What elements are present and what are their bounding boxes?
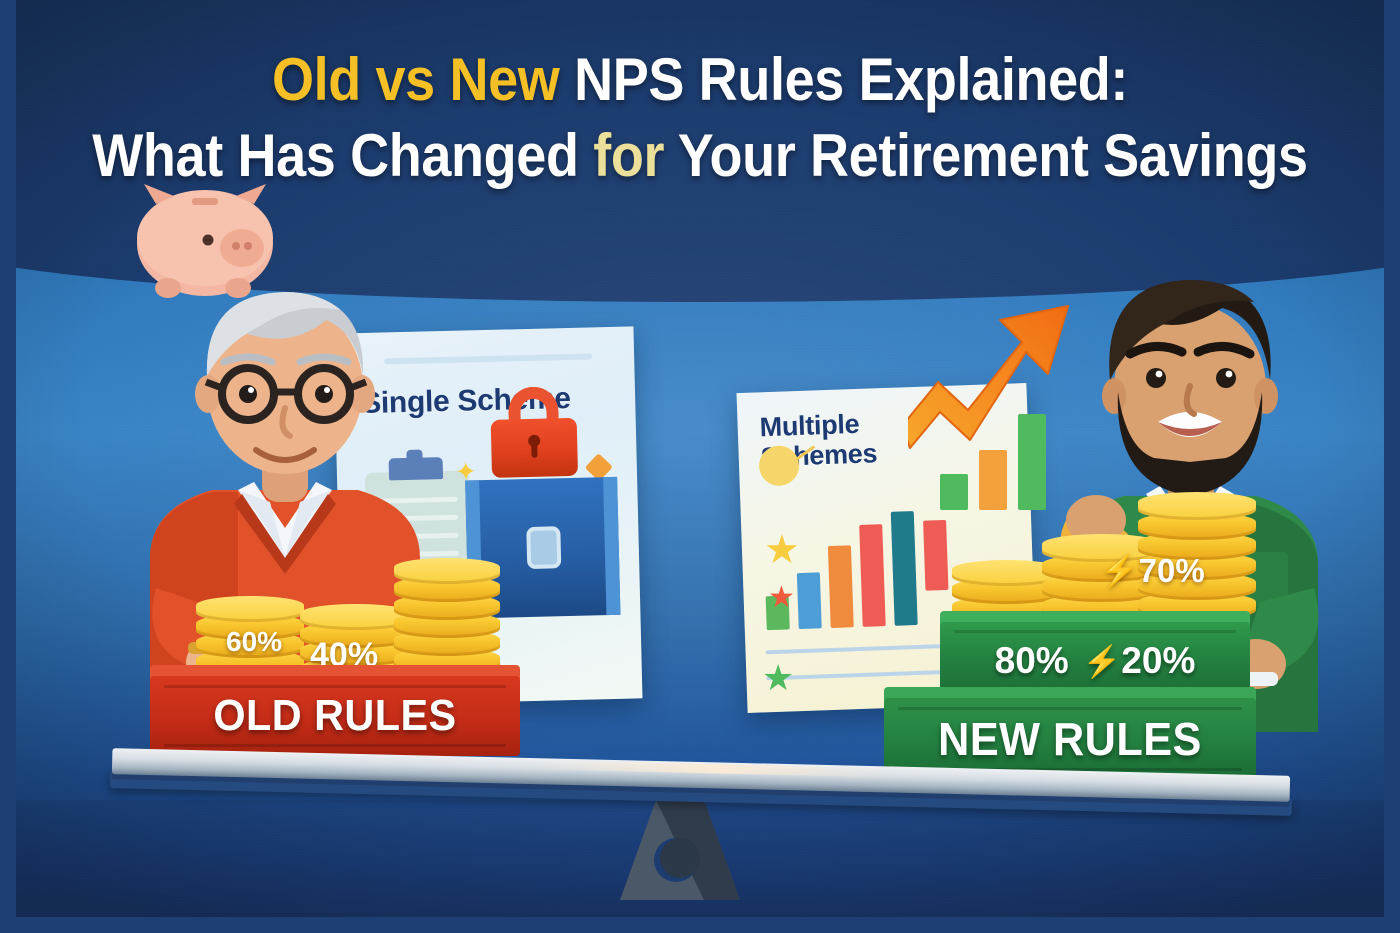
percent-80-label: 80%: [995, 640, 1069, 682]
block-seam: [164, 685, 506, 688]
star-yellow-icon: ★: [764, 530, 800, 570]
bar-chart-bar: [859, 524, 886, 627]
old-rules-label: OLD RULES: [161, 691, 509, 741]
piggy-bank-icon: [130, 182, 280, 300]
percent-20-label: 20%: [1121, 640, 1195, 681]
block-seam: [164, 744, 506, 747]
title-line-1-rest: NPS Rules Explained:: [559, 46, 1128, 113]
briefcase-latch: [526, 526, 561, 569]
title-highlight-for: for: [593, 122, 664, 189]
bar-chart-bar: [828, 545, 854, 628]
coin-label-70: ⚡70%: [1100, 552, 1205, 590]
coin-label-60: 60%: [226, 626, 282, 658]
bolt-icon: ⚡: [1100, 552, 1139, 589]
coin-top: [394, 558, 500, 584]
padlock-icon: [490, 388, 578, 468]
pie-dot-icon: [756, 424, 820, 488]
bolt-icon: ⚡: [1083, 643, 1122, 680]
star-orange-icon: ★: [768, 583, 795, 613]
title-block: Old vs New NPS Rules Explained: What Has…: [0, 48, 1400, 187]
title-line-2: What Has Changed for Your Retirement Sav…: [70, 124, 1330, 188]
new-rules-label: NEW RULES: [895, 712, 1245, 766]
new-rules-percent-row: 80% ⚡20%: [940, 640, 1250, 682]
title-line-2-part-b: Your Retirement Savings: [664, 122, 1308, 189]
padlock-keyhole-slot: [531, 444, 537, 458]
coin-label-70-value: 70%: [1139, 552, 1205, 589]
block-seam: [898, 707, 1242, 710]
coin-top: [1138, 492, 1256, 520]
star-green-icon: ★: [762, 660, 794, 696]
briefcase-band: [603, 477, 620, 615]
bar-chart-bar: [797, 572, 822, 629]
title-line-1: Old vs New NPS Rules Explained:: [70, 48, 1330, 112]
old-rules-block: OLD RULES: [150, 676, 520, 756]
block-seam: [954, 630, 1236, 633]
title-line-2-part-a: What Has Changed: [92, 122, 593, 189]
balance-fulcrum: [600, 800, 760, 906]
percent-20-group: ⚡20%: [1083, 640, 1196, 682]
infographic-canvas: Old vs New NPS Rules Explained: What Has…: [0, 0, 1400, 933]
title-highlight-old-vs-new: Old vs New: [272, 46, 560, 113]
triangle-fulcrum-icon: [600, 800, 760, 906]
coin-top: [196, 596, 304, 622]
